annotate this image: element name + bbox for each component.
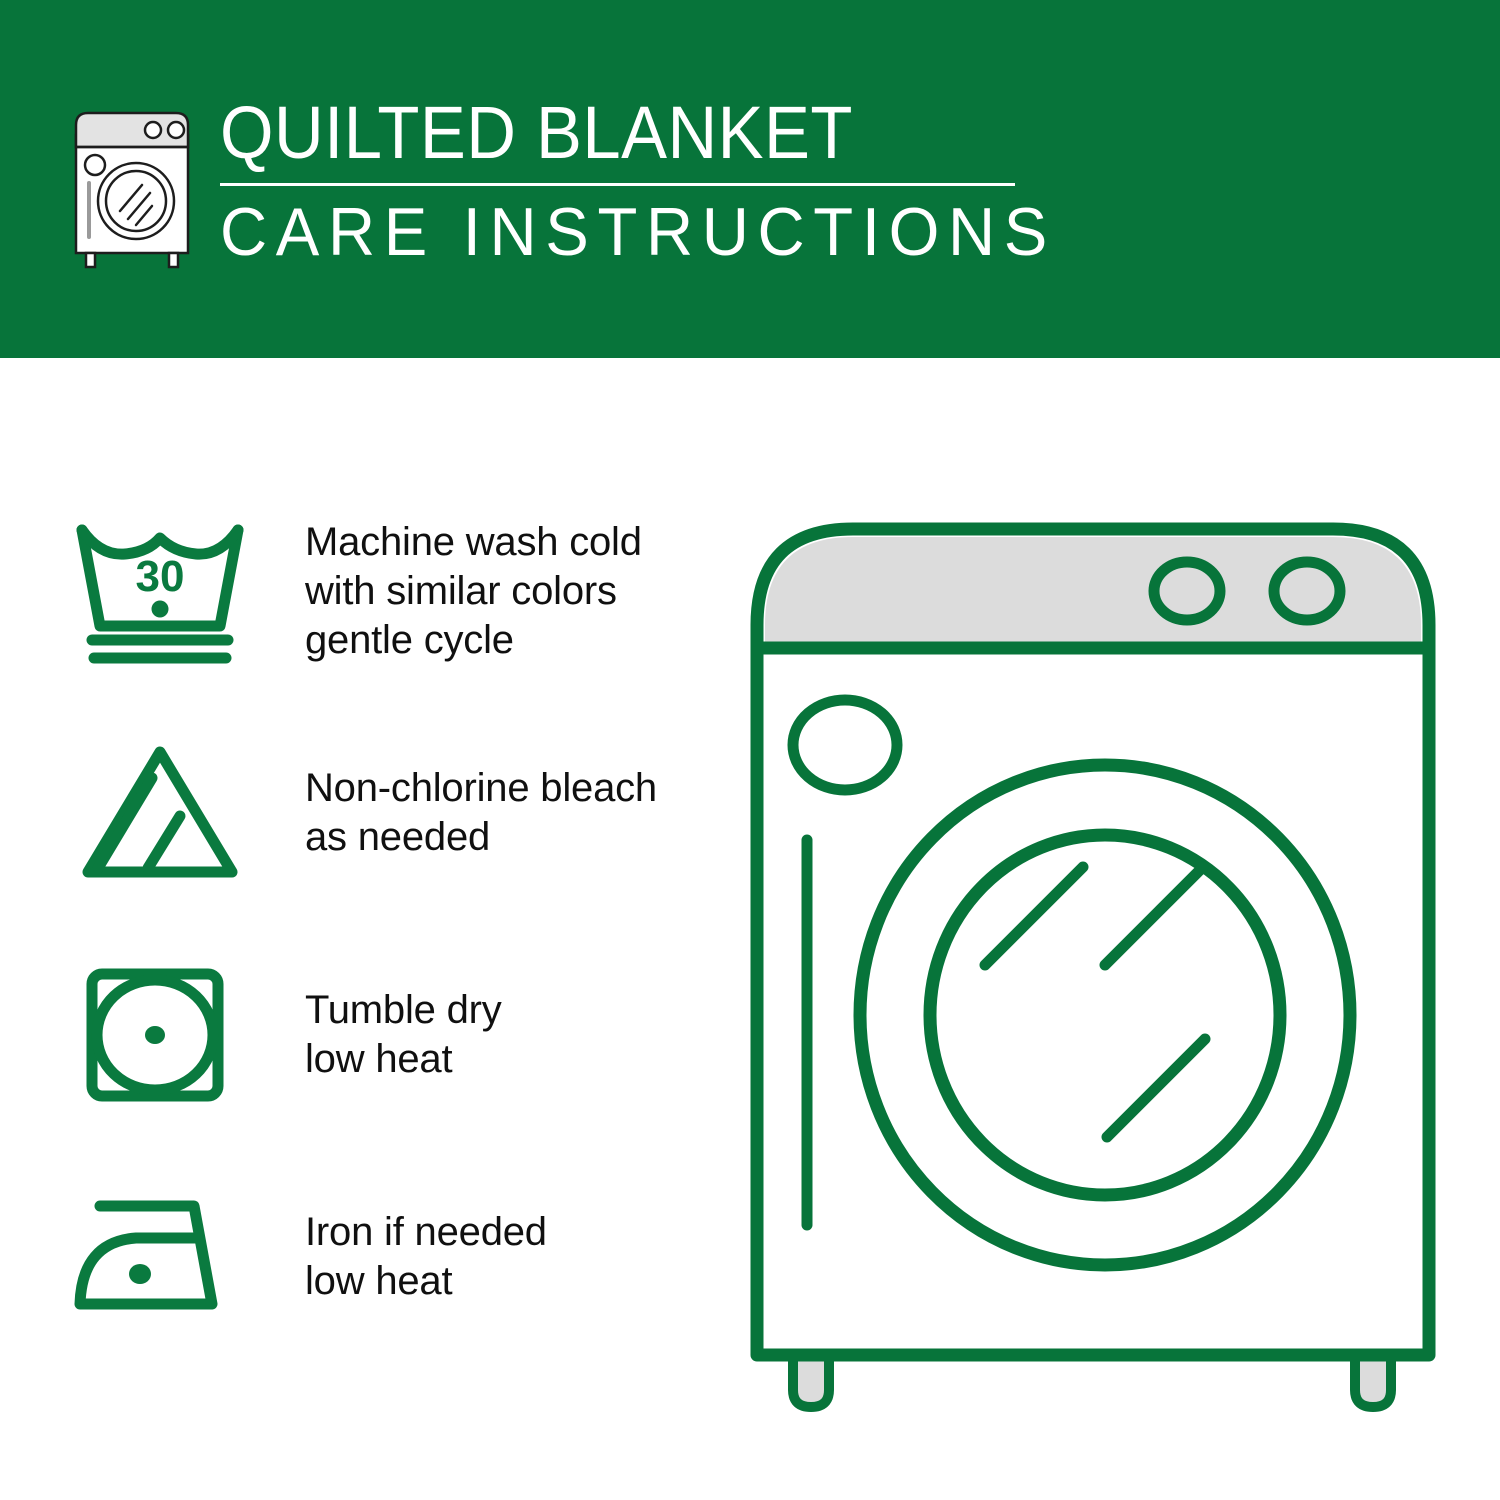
washing-machine-icon [62, 105, 202, 270]
machine-knob-right [1274, 562, 1340, 620]
page-title-primary: QUILTED BLANKET [220, 95, 853, 177]
iron-low-heat-icon [70, 1177, 250, 1337]
large-washing-machine-illustration [735, 495, 1455, 1420]
header-title-block: QUILTED BLANKET CARE INSTRUCTIONS [220, 95, 1091, 268]
tumble-dry-low-icon [70, 955, 250, 1115]
non-chlorine-bleach-triangle-icon [70, 733, 250, 893]
header-content: QUILTED BLANKET CARE INSTRUCTIONS [62, 95, 1091, 270]
detergent-indicator-circle [793, 700, 897, 790]
list-item-label: Iron if needed low heat [305, 1208, 547, 1306]
machine-knob-left [1154, 562, 1220, 620]
list-item-label: Non-chlorine bleach as needed [305, 764, 657, 862]
care-instruction-list: 30 Machine wash cold with similar colors… [70, 505, 720, 1343]
title-divider [220, 183, 1015, 186]
page-title-secondary: CARE INSTRUCTIONS [220, 196, 1056, 268]
list-item: 30 Machine wash cold with similar colors… [70, 505, 720, 677]
list-item-label: Machine wash cold with similar colors ge… [305, 518, 642, 665]
list-item: Non-chlorine bleach as needed [70, 727, 720, 899]
wash-temperature-label: 30 [136, 552, 185, 601]
list-item: Tumble dry low heat [70, 949, 720, 1121]
header-banner: QUILTED BLANKET CARE INSTRUCTIONS [0, 0, 1500, 358]
list-item-label: Tumble dry low heat [305, 986, 502, 1084]
list-item: Iron if needed low heat [70, 1171, 720, 1343]
wash-tub-30-gentle-icon: 30 [70, 511, 250, 671]
